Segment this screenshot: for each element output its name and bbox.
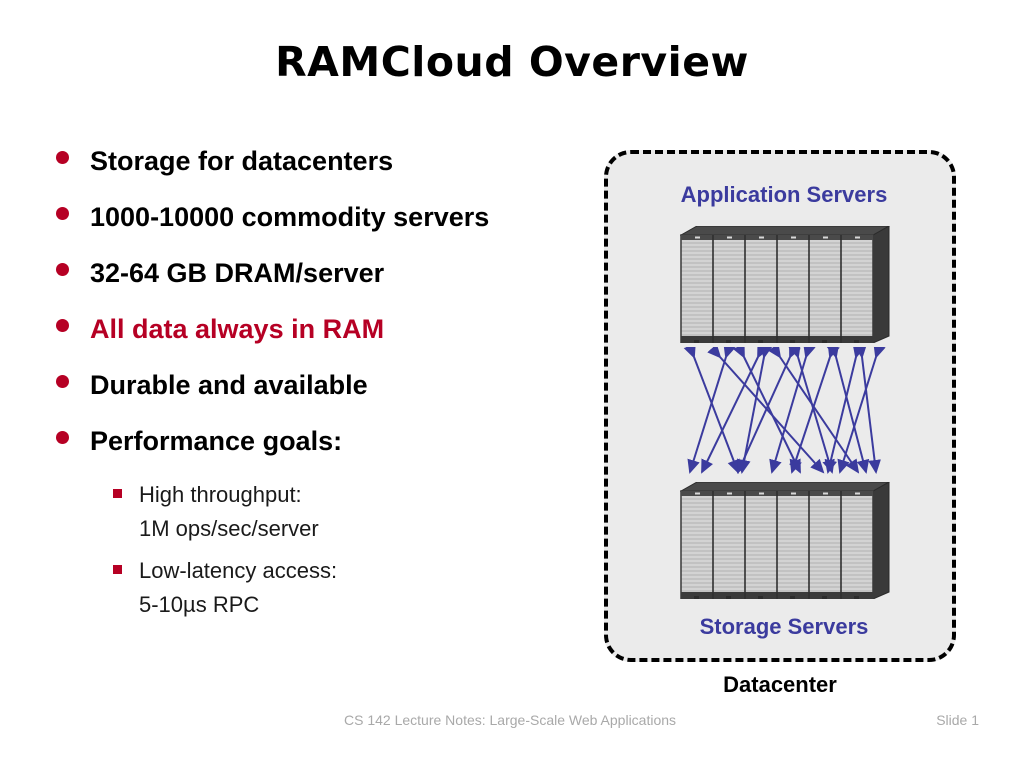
bullet-dot-icon — [56, 151, 69, 164]
sub-list-item: High throughput: 1M ops/sec/server — [113, 478, 526, 546]
sub-bullet-list: High throughput: 1M ops/sec/server Low-l… — [113, 478, 526, 622]
list-item: Performance goals: — [56, 422, 526, 461]
bullet-text: 32-64 GB DRAM/server — [90, 254, 384, 293]
list-item: 32-64 GB DRAM/server — [56, 254, 526, 293]
bullet-dot-icon — [56, 319, 69, 332]
list-item: 1000-10000 commodity servers — [56, 198, 526, 237]
bullet-dot-icon — [56, 431, 69, 444]
footer-note: CS 142 Lecture Notes: Large-Scale Web Ap… — [344, 712, 676, 728]
list-item: Storage for datacenters — [56, 142, 526, 181]
slide-footer: CS 142 Lecture Notes: Large-Scale Web Ap… — [0, 712, 1024, 734]
bullet-dot-icon — [56, 207, 69, 220]
storage-server-rack-icon — [680, 482, 890, 599]
bullet-text: Durable and available — [90, 366, 368, 405]
bullet-dot-icon — [56, 263, 69, 276]
bullet-text-highlighted: All data always in RAM — [90, 310, 384, 349]
list-item: All data always in RAM — [56, 310, 526, 349]
datacenter-diagram: Application Servers — [604, 150, 956, 662]
bullet-text: Performance goals: — [90, 422, 342, 461]
bullet-text: 1000-10000 commodity servers — [90, 198, 489, 237]
sub-bullet-square-icon — [113, 565, 122, 574]
storage-servers-label: Storage Servers — [608, 614, 960, 640]
bullet-list: Storage for datacenters 1000-10000 commo… — [56, 142, 526, 630]
sub-bullet-text: High throughput: 1M ops/sec/server — [139, 478, 319, 546]
bullet-text: Storage for datacenters — [90, 142, 393, 181]
network-arrows-icon — [680, 347, 890, 482]
application-server-rack-icon — [680, 226, 890, 343]
page-title: RAMCloud Overview — [0, 38, 1024, 86]
sub-list-item: Low-latency access: 5-10µs RPC — [113, 554, 526, 622]
footer-slide-number: Slide 1 — [936, 712, 979, 728]
bullet-dot-icon — [56, 375, 69, 388]
datacenter-caption: Datacenter — [604, 672, 956, 698]
list-item: Durable and available — [56, 366, 526, 405]
sub-bullet-text: Low-latency access: 5-10µs RPC — [139, 554, 337, 622]
application-servers-label: Application Servers — [608, 182, 960, 208]
sub-bullet-square-icon — [113, 489, 122, 498]
